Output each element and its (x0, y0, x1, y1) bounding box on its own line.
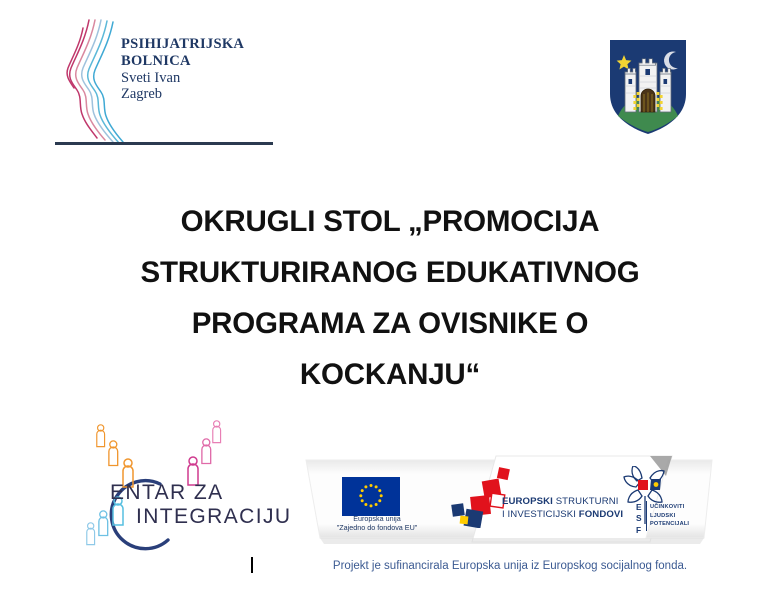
text-cursor[interactable] (251, 557, 253, 573)
title-line-4: KOCKANJU“ (90, 349, 690, 400)
eu-flag-caption-line-2: "Zajedno do fondova EU" (312, 523, 442, 532)
hospital-name-line-1: PSIHIJATRIJSKA (121, 36, 244, 53)
esi-funds-wordmark: EUROPSKI STRUKTURNI I INVESTICIJSKI FOND… (502, 496, 623, 522)
centar-label-line-1: ENTAR ZA (110, 482, 291, 503)
esf-letter-f: F (636, 525, 642, 536)
presentation-slide: PSIHIJATRIJSKA BOLNICA Sveti Ivan Zagreb (0, 0, 779, 592)
hospital-logo: PSIHIJATRIJSKA BOLNICA Sveti Ivan Zagreb (55, 18, 285, 148)
eu-flag-caption-line-1: Europska unija (312, 514, 442, 523)
esi-funds-line-1: EUROPSKI STRUKTURNI (502, 496, 623, 509)
esf-divider (646, 501, 647, 531)
person-figures-magenta (188, 421, 221, 485)
esf-tagline-line-3: POTENCIJALI (650, 520, 689, 529)
eu-flag-caption: Europska unija "Zajedno do fondova EU" (312, 514, 442, 532)
hospital-logo-divider (55, 142, 273, 145)
title-line-1: OKRUGLI STOL „PROMOCIJA (90, 196, 690, 247)
esf-tagline-line-1: UČINKOVITI (650, 503, 689, 512)
zagreb-coat-of-arms-icon (606, 36, 690, 136)
esf-tagline: UČINKOVITI LJUDSKI POTENCIJALI (650, 503, 689, 529)
title-line-2: STRUKTURIRANOG EDUKATIVNOG (90, 247, 690, 298)
centar-za-integraciju-text: ENTAR ZA INTEGRACIJU (110, 482, 291, 528)
esf-letters: E S F (636, 502, 642, 536)
page-title: OKRUGLI STOL „PROMOCIJA STRUKTURIRANOG E… (90, 196, 690, 400)
esf-letter-s: S (636, 513, 642, 524)
hospital-name-line-3: Sveti Ivan (121, 70, 244, 87)
esi-funds-line-1-bold: EUROPSKI (502, 496, 556, 507)
hospital-logo-text: PSIHIJATRIJSKA BOLNICA Sveti Ivan Zagreb (121, 36, 244, 103)
person-figures-orange (97, 425, 133, 487)
esf-letter-e: E (636, 502, 642, 513)
esi-funds-line-2-bold: FONDOVI (579, 509, 623, 520)
esi-funds-line-2-regular: I INVESTICIJSKI (502, 509, 579, 520)
hospital-name-line-2: BOLNICA (121, 53, 244, 70)
esf-tagline-line-2: LJUDSKI (650, 512, 689, 521)
esi-funds-line-1-regular: STRUKTURNI (556, 496, 619, 507)
eu-funding-caption: Projekt je sufinancirala Europska unija … (300, 560, 720, 572)
centar-label-line-2: INTEGRACIJU (136, 506, 291, 527)
esi-funds-line-2: I INVESTICIJSKI FONDOVI (502, 509, 623, 522)
european-union-flag-icon (342, 477, 400, 516)
title-line-3: PROGRAMA ZA OVISNIKE O (90, 298, 690, 349)
hospital-name-line-4: Zagreb (121, 86, 244, 103)
